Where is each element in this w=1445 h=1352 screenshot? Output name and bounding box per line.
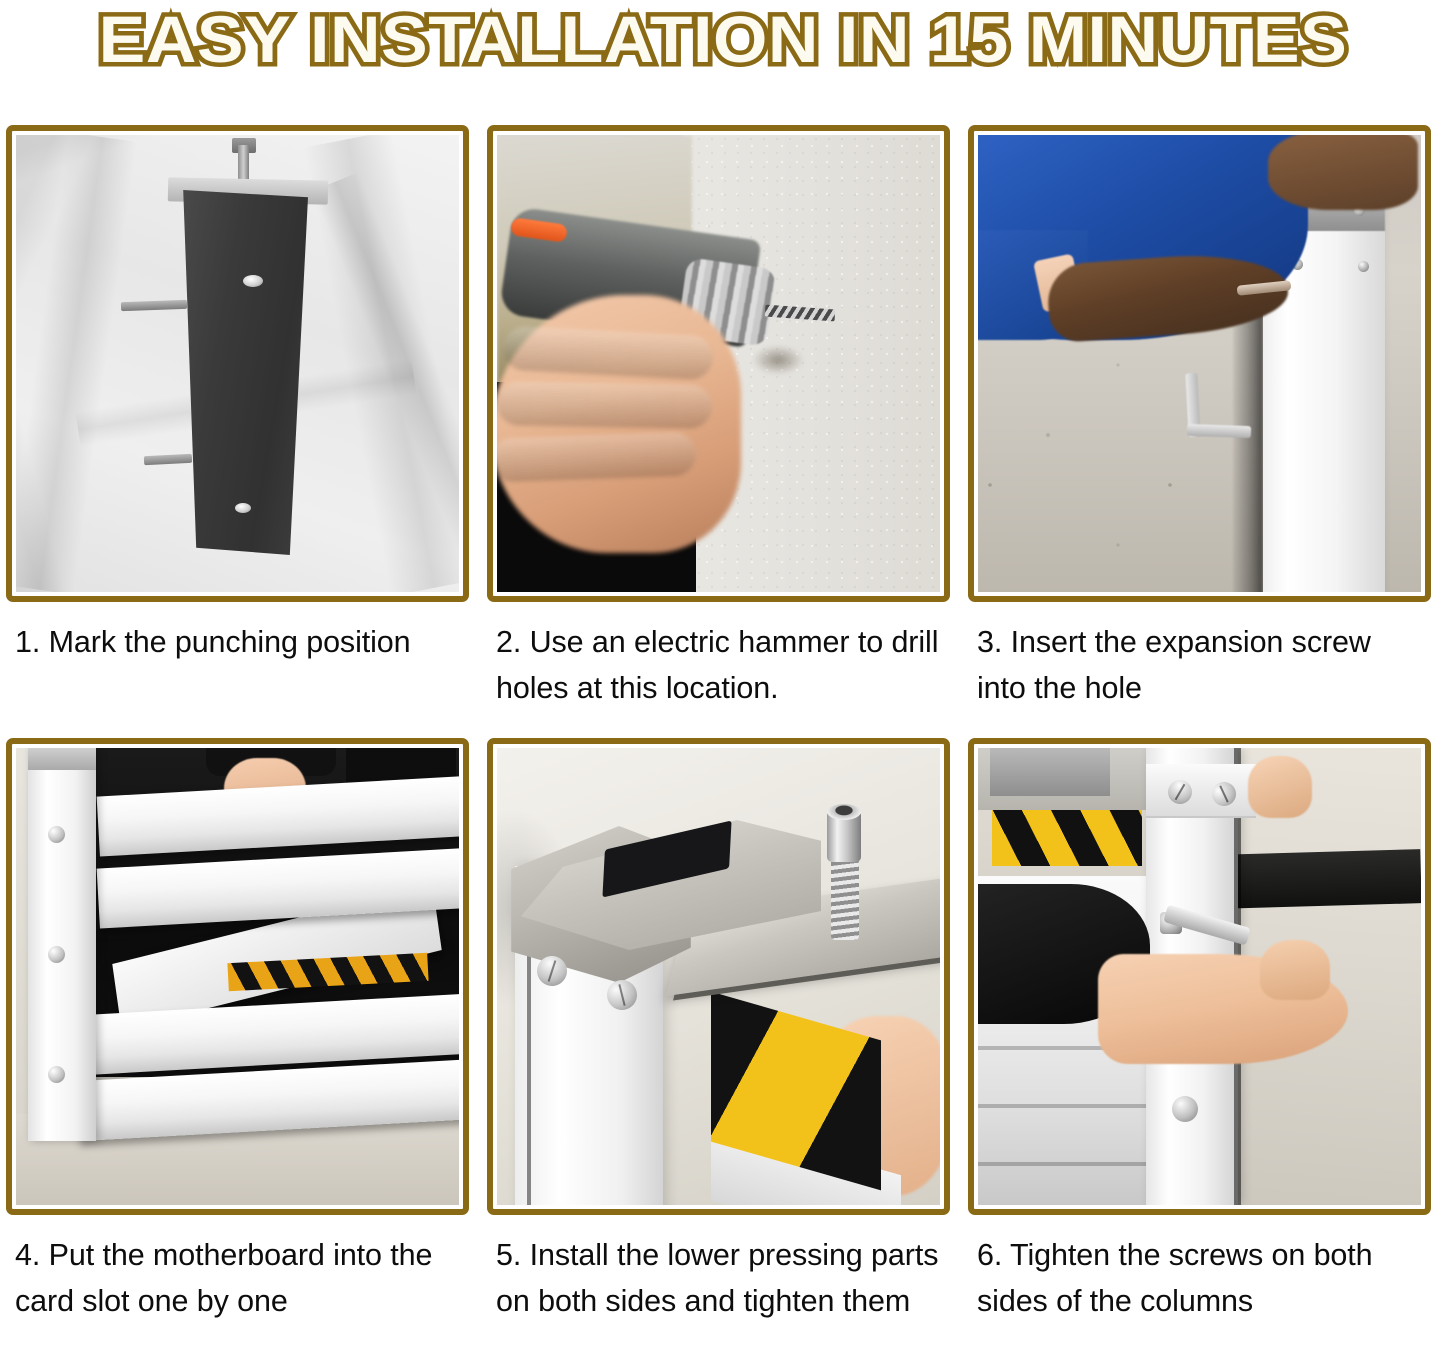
marking-template-plate: [178, 190, 308, 555]
slot-pin-icon: [48, 826, 65, 843]
slot-pin-icon: [48, 1066, 65, 1083]
step-caption-1: 1. Mark the punching position: [6, 619, 469, 665]
step-photo-1: [16, 135, 459, 592]
step-card-1: 1. Mark the punching position: [6, 125, 469, 711]
arm-icon: [1268, 135, 1418, 210]
step-photo-frame-5: [487, 738, 950, 1215]
template-hole-icon: [243, 275, 263, 287]
step-caption-5: 5. Install the lower pressing parts on b…: [487, 1232, 950, 1324]
steps-grid: 1. Mark the punching position: [0, 125, 1445, 1352]
step-photo-3: [978, 135, 1421, 592]
step-caption-4: 4. Put the motherboard into the card slo…: [6, 1232, 469, 1324]
step-card-4: 4. Put the motherboard into the card slo…: [6, 738, 469, 1324]
steps-row-top: 1. Mark the punching position: [0, 125, 1445, 711]
steps-row-bottom: 4. Put the motherboard into the card slo…: [0, 738, 1445, 1324]
step-photo-4: [16, 748, 459, 1205]
installation-infographic: EASY INSTALLATION IN 15 MINUTES: [0, 0, 1445, 1352]
step-photo-frame-6: [968, 738, 1431, 1215]
allen-key-icon: [1187, 424, 1251, 438]
page-title: EASY INSTALLATION IN 15 MINUTES: [98, 2, 1347, 76]
step-photo-5: [497, 748, 940, 1205]
step-caption-3: 3. Insert the expansion screw into the h…: [968, 619, 1431, 711]
template-hole-icon: [235, 503, 251, 513]
screw-icon: [1172, 1096, 1198, 1122]
step-card-2: 2. Use an electric hammer to drill holes…: [487, 125, 950, 711]
step-card-3: 3. Insert the expansion screw into the h…: [968, 125, 1431, 711]
bolt-thread-icon: [831, 858, 859, 940]
step-photo-6: [978, 748, 1421, 1205]
header-banner: EASY INSTALLATION IN 15 MINUTES: [0, 0, 1445, 118]
aluminium-column: [28, 748, 96, 1141]
slot-pin-icon: [48, 946, 65, 963]
step-card-6: 6. Tighten the screws on both sides of t…: [968, 738, 1431, 1324]
screw-icon: [1358, 261, 1369, 272]
step-caption-6: 6. Tighten the screws on both sides of t…: [968, 1232, 1431, 1324]
hazard-stripe: [992, 810, 1142, 866]
step-photo-2: [497, 135, 940, 592]
step-photo-frame-3: [968, 125, 1431, 602]
step-card-5: 5. Install the lower pressing parts on b…: [487, 738, 950, 1324]
hand-icon: [1248, 756, 1312, 818]
step-photo-frame-1: [6, 125, 469, 602]
step-photo-frame-2: [487, 125, 950, 602]
step-photo-frame-4: [6, 738, 469, 1215]
step-caption-2: 2. Use an electric hammer to drill holes…: [487, 619, 950, 711]
